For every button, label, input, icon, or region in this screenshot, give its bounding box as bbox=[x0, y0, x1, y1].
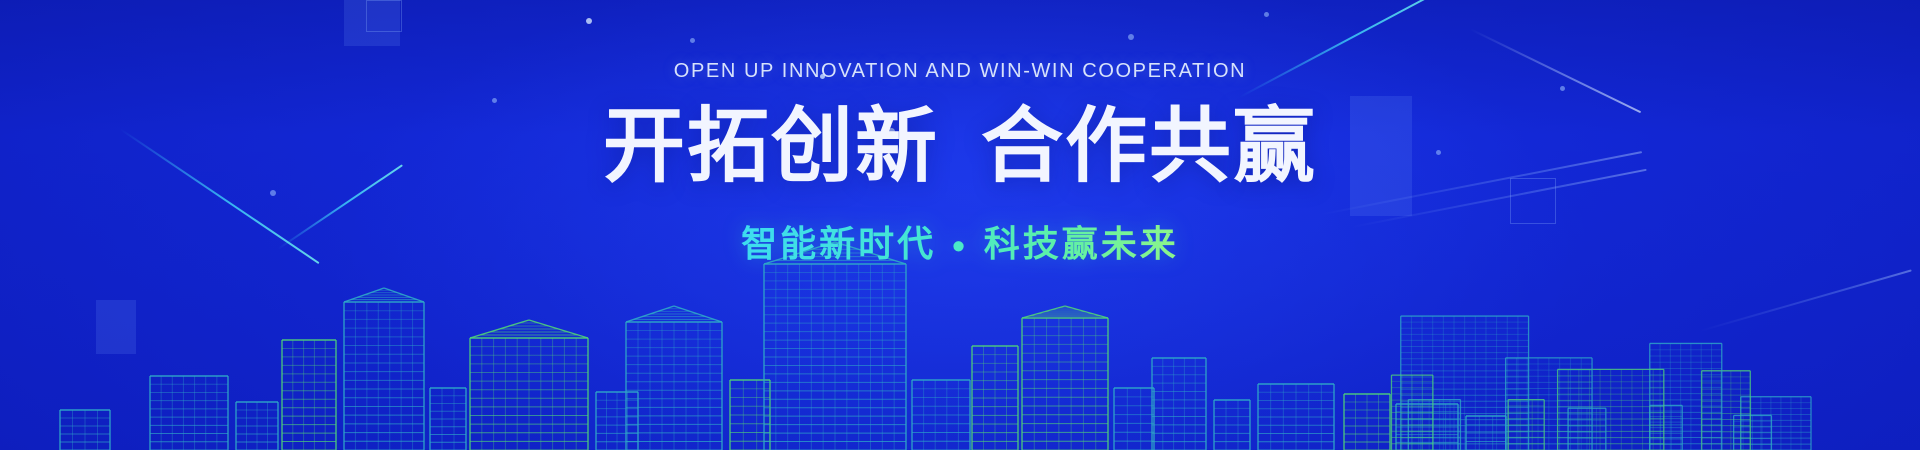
banner-eyebrow-text: OPEN UP INNOVATION AND WIN-WIN COOPERATI… bbox=[674, 60, 1246, 83]
banner-subtitle: 智能新时代•科技赢未来 bbox=[741, 215, 1179, 267]
subtitle-separator-dot: • bbox=[936, 225, 984, 267]
banner-headline: 开拓创新合作共赢 bbox=[603, 105, 1317, 189]
headline-phrase-left: 开拓创新 bbox=[603, 101, 939, 192]
subtitle-phrase-right: 科技赢未来 bbox=[984, 223, 1179, 264]
headline-phrase-right: 合作共赢 bbox=[981, 101, 1317, 192]
subtitle-phrase-left: 智能新时代 bbox=[741, 223, 936, 264]
banner-content: OPEN UP INNOVATION AND WIN-WIN COOPERATI… bbox=[0, 0, 1920, 450]
hero-banner: OPEN UP INNOVATION AND WIN-WIN COOPERATI… bbox=[0, 0, 1920, 450]
